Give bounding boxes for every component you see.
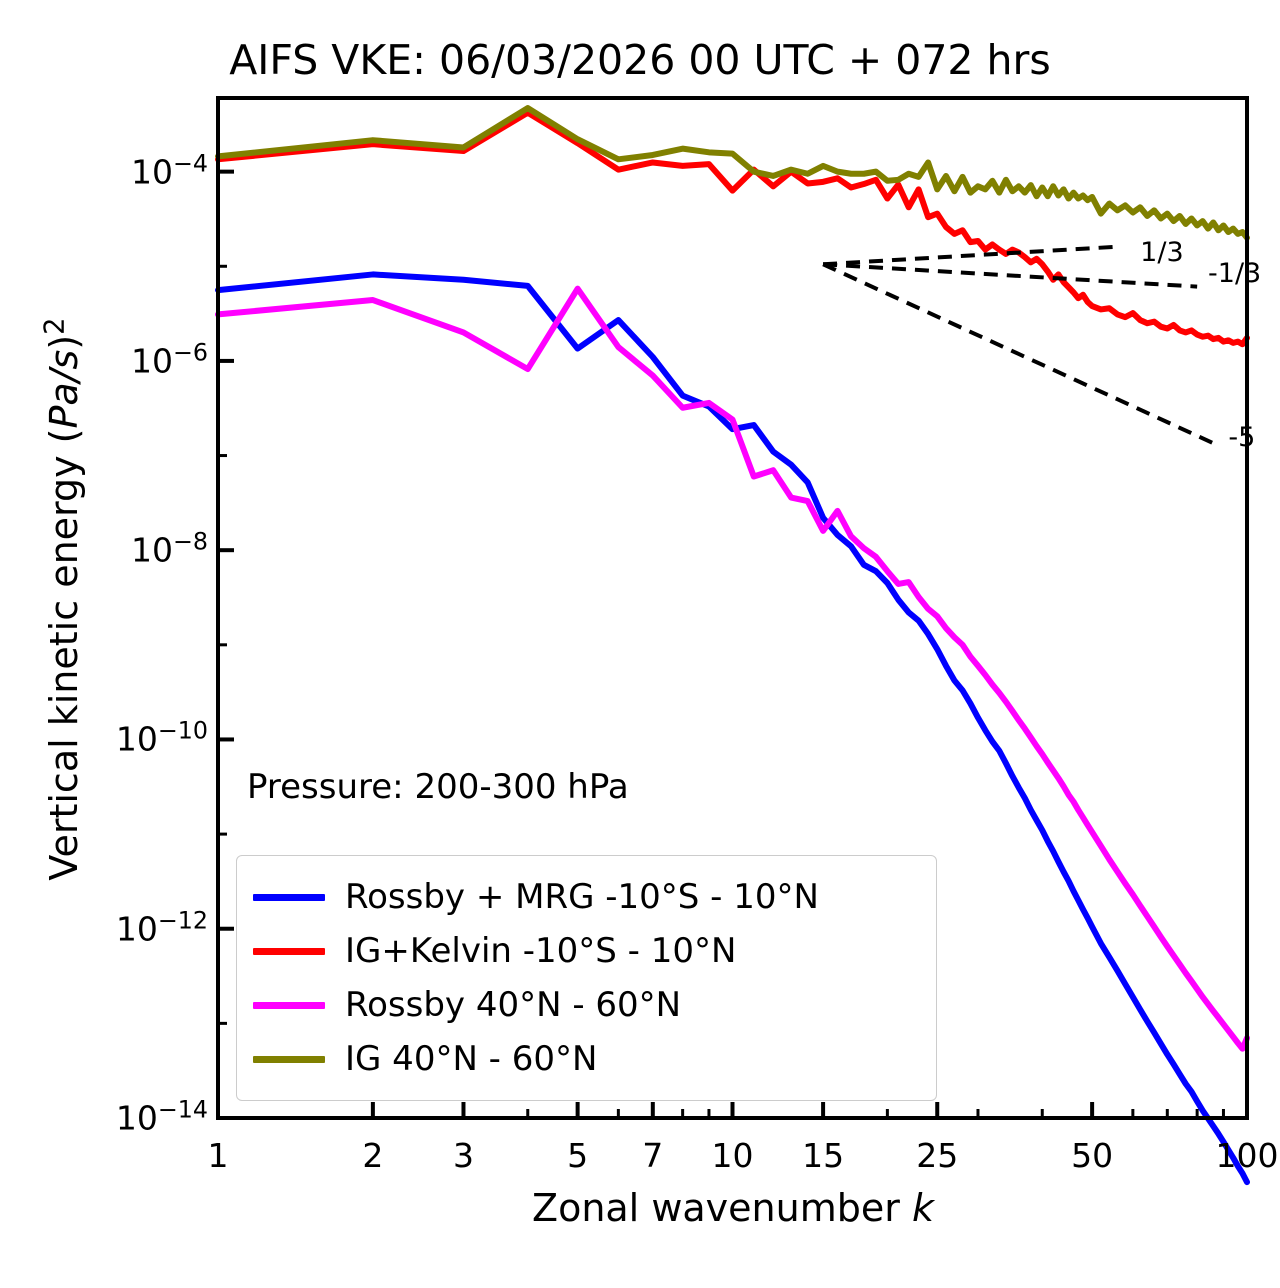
x-tick-label: 1	[208, 1136, 229, 1175]
legend-color-swatch	[253, 1056, 325, 1063]
x-tick-label: 50	[1071, 1136, 1113, 1175]
y-tick-label: 10−12	[60, 909, 208, 948]
y-tick-label: 10−8	[60, 531, 208, 570]
x-tick-label: 5	[567, 1136, 588, 1175]
legend-color-swatch	[253, 894, 325, 901]
x-tick-label: 10	[712, 1136, 754, 1175]
x-tick-label: 7	[642, 1136, 663, 1175]
y-tick-label: 10−14	[60, 1099, 208, 1138]
series-line-1	[218, 113, 1247, 345]
legend-item-label: Rossby + MRG -10°S - 10°N	[345, 877, 819, 917]
x-axis-label-prefix: Zonal wavenumber	[532, 1186, 912, 1230]
legend-item[interactable]: IG+Kelvin -10°S - 10°N	[253, 924, 920, 978]
y-tick-label: 10−4	[60, 152, 208, 191]
legend-item-label: Rossby 40°N - 60°N	[345, 985, 681, 1025]
x-tick-label: 100	[1216, 1136, 1279, 1175]
legend-item-label: IG 40°N - 60°N	[345, 1039, 597, 1079]
x-tick-label: 25	[916, 1136, 958, 1175]
x-tick-label: 2	[362, 1136, 383, 1175]
x-axis-label-italic: k	[912, 1186, 934, 1230]
figure-canvas: AIFS VKE: 06/03/2026 00 UTC + 072 hrs 10…	[0, 0, 1280, 1288]
x-tick-label: 15	[802, 1136, 844, 1175]
reference-lines-layer	[823, 246, 1213, 443]
legend: Rossby + MRG -10°S - 10°NIG+Kelvin -10°S…	[236, 855, 937, 1101]
x-axis-label: Zonal wavenumber k	[218, 1186, 1248, 1230]
slope-label-minus-one-third: -1/3	[1208, 258, 1261, 289]
x-tick-label: 3	[453, 1136, 474, 1175]
legend-color-swatch	[253, 948, 325, 955]
y-tick-label: 10−10	[60, 720, 208, 759]
pressure-annotation: Pressure: 200-300 hPa	[247, 767, 629, 807]
y-tick-label: 10−6	[60, 341, 208, 380]
ref-line-plus-one-third	[823, 246, 1121, 264]
series-line-3	[218, 108, 1247, 238]
slope-label-plus-one-third: 1/3	[1140, 237, 1183, 268]
legend-item-label: IG+Kelvin -10°S - 10°N	[345, 931, 736, 971]
legend-item[interactable]: Rossby + MRG -10°S - 10°N	[253, 870, 920, 924]
legend-color-swatch	[253, 1002, 325, 1009]
legend-item[interactable]: IG 40°N - 60°N	[253, 1032, 920, 1086]
ref-line-minus-five	[823, 264, 1213, 443]
slope-label-minus-five: -5	[1228, 422, 1255, 453]
legend-item[interactable]: Rossby 40°N - 60°N	[253, 978, 920, 1032]
